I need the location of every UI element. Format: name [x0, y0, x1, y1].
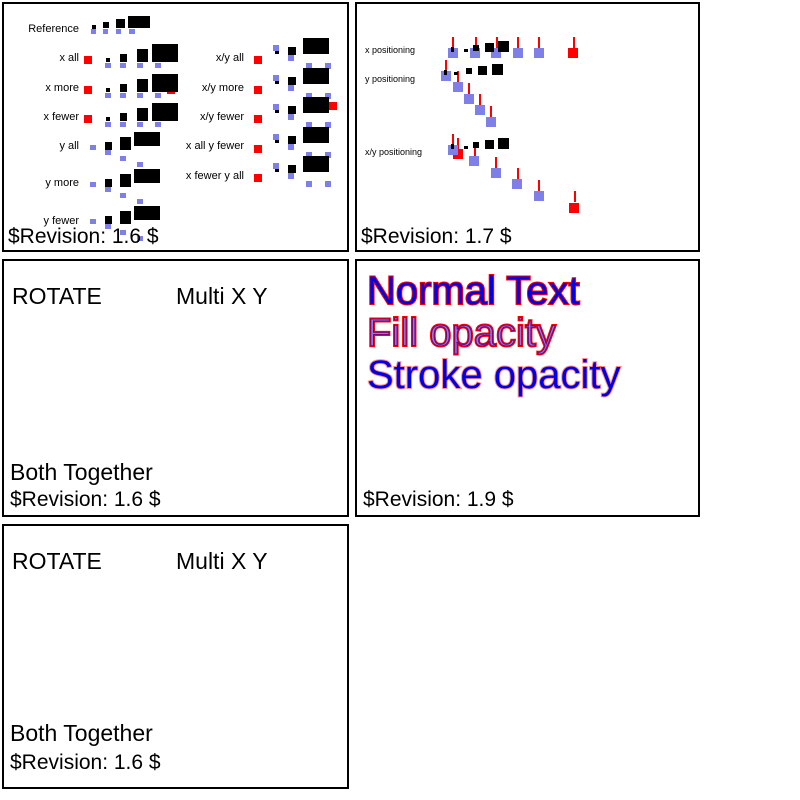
- revision-label: $Revision: 1.6 $: [10, 489, 161, 510]
- panel-body: Normal Text Fill opacity Stroke opacity …: [357, 261, 698, 515]
- marker-red: [254, 86, 262, 94]
- footer-both-together: Both Together: [10, 722, 153, 745]
- row-label-y-all: y all: [4, 140, 79, 152]
- panel-rotate-multi-xy-b: ROTATE Multi X Y Both Together $Revision…: [2, 524, 349, 789]
- row-label-x-all-y-fewer: x all y fewer: [148, 140, 244, 152]
- row-label-x-fewer: x fewer: [4, 111, 79, 123]
- panel-rotate-multi-xy-a: ROTATE Multi X Y Both Together $Revision…: [2, 259, 349, 517]
- text-stroke-opacity: Stroke opacity: [367, 355, 620, 395]
- panel-body: x positioning y positioning x/y position…: [357, 4, 698, 250]
- panel-body: ROTATE Multi X Y Both Together $Revision…: [4, 526, 347, 787]
- row-label-reference: Reference: [4, 23, 79, 35]
- marker-red: [254, 56, 262, 64]
- row-label-x-fewer-y-all: x fewer y all: [148, 170, 244, 182]
- panel-body: ROTATE Multi X Y Both Together $Revision…: [4, 261, 347, 515]
- marker-red: [254, 174, 262, 182]
- panel-body: Reference x all x more x fewer y all y m…: [4, 4, 347, 250]
- screenshot-root: Reference x all x more x fewer y all y m…: [0, 0, 800, 800]
- revision-label: $Revision: 1.7 $: [361, 226, 512, 247]
- row-label-x-positioning: x positioning: [365, 45, 445, 55]
- row-label-y-more: y more: [4, 177, 79, 189]
- panel-text-opacity: Normal Text Fill opacity Stroke opacity …: [355, 259, 700, 517]
- row-label-xy-positioning: x/y positioning: [365, 147, 455, 157]
- marker-red: [84, 86, 92, 94]
- panel-text-positioning: x positioning y positioning x/y position…: [355, 2, 700, 252]
- heading-rotate: ROTATE: [12, 550, 102, 573]
- row-label-x-all: x all: [4, 52, 79, 64]
- marker-red: [84, 115, 92, 123]
- heading-multi-xy: Multi X Y: [176, 550, 268, 573]
- revision-label: $Revision: 1.6 $: [8, 226, 159, 247]
- text-fill-opacity: Fill opacity: [367, 313, 556, 353]
- text-normal: Normal Text: [367, 271, 580, 311]
- marker-red: [329, 102, 337, 110]
- marker-red: [254, 115, 262, 123]
- marker-red: [84, 56, 92, 64]
- panel-text-align-reference: Reference x all x more x fewer y all y m…: [2, 2, 349, 252]
- heading-rotate: ROTATE: [12, 285, 102, 308]
- heading-multi-xy: Multi X Y: [176, 285, 268, 308]
- revision-label: $Revision: 1.6 $: [10, 752, 161, 773]
- footer-both-together: Both Together: [10, 461, 153, 484]
- row-label-x-more: x more: [4, 82, 79, 94]
- revision-label: $Revision: 1.9 $: [363, 489, 514, 510]
- row-label-y-positioning: y positioning: [365, 74, 445, 84]
- marker-red: [254, 145, 262, 153]
